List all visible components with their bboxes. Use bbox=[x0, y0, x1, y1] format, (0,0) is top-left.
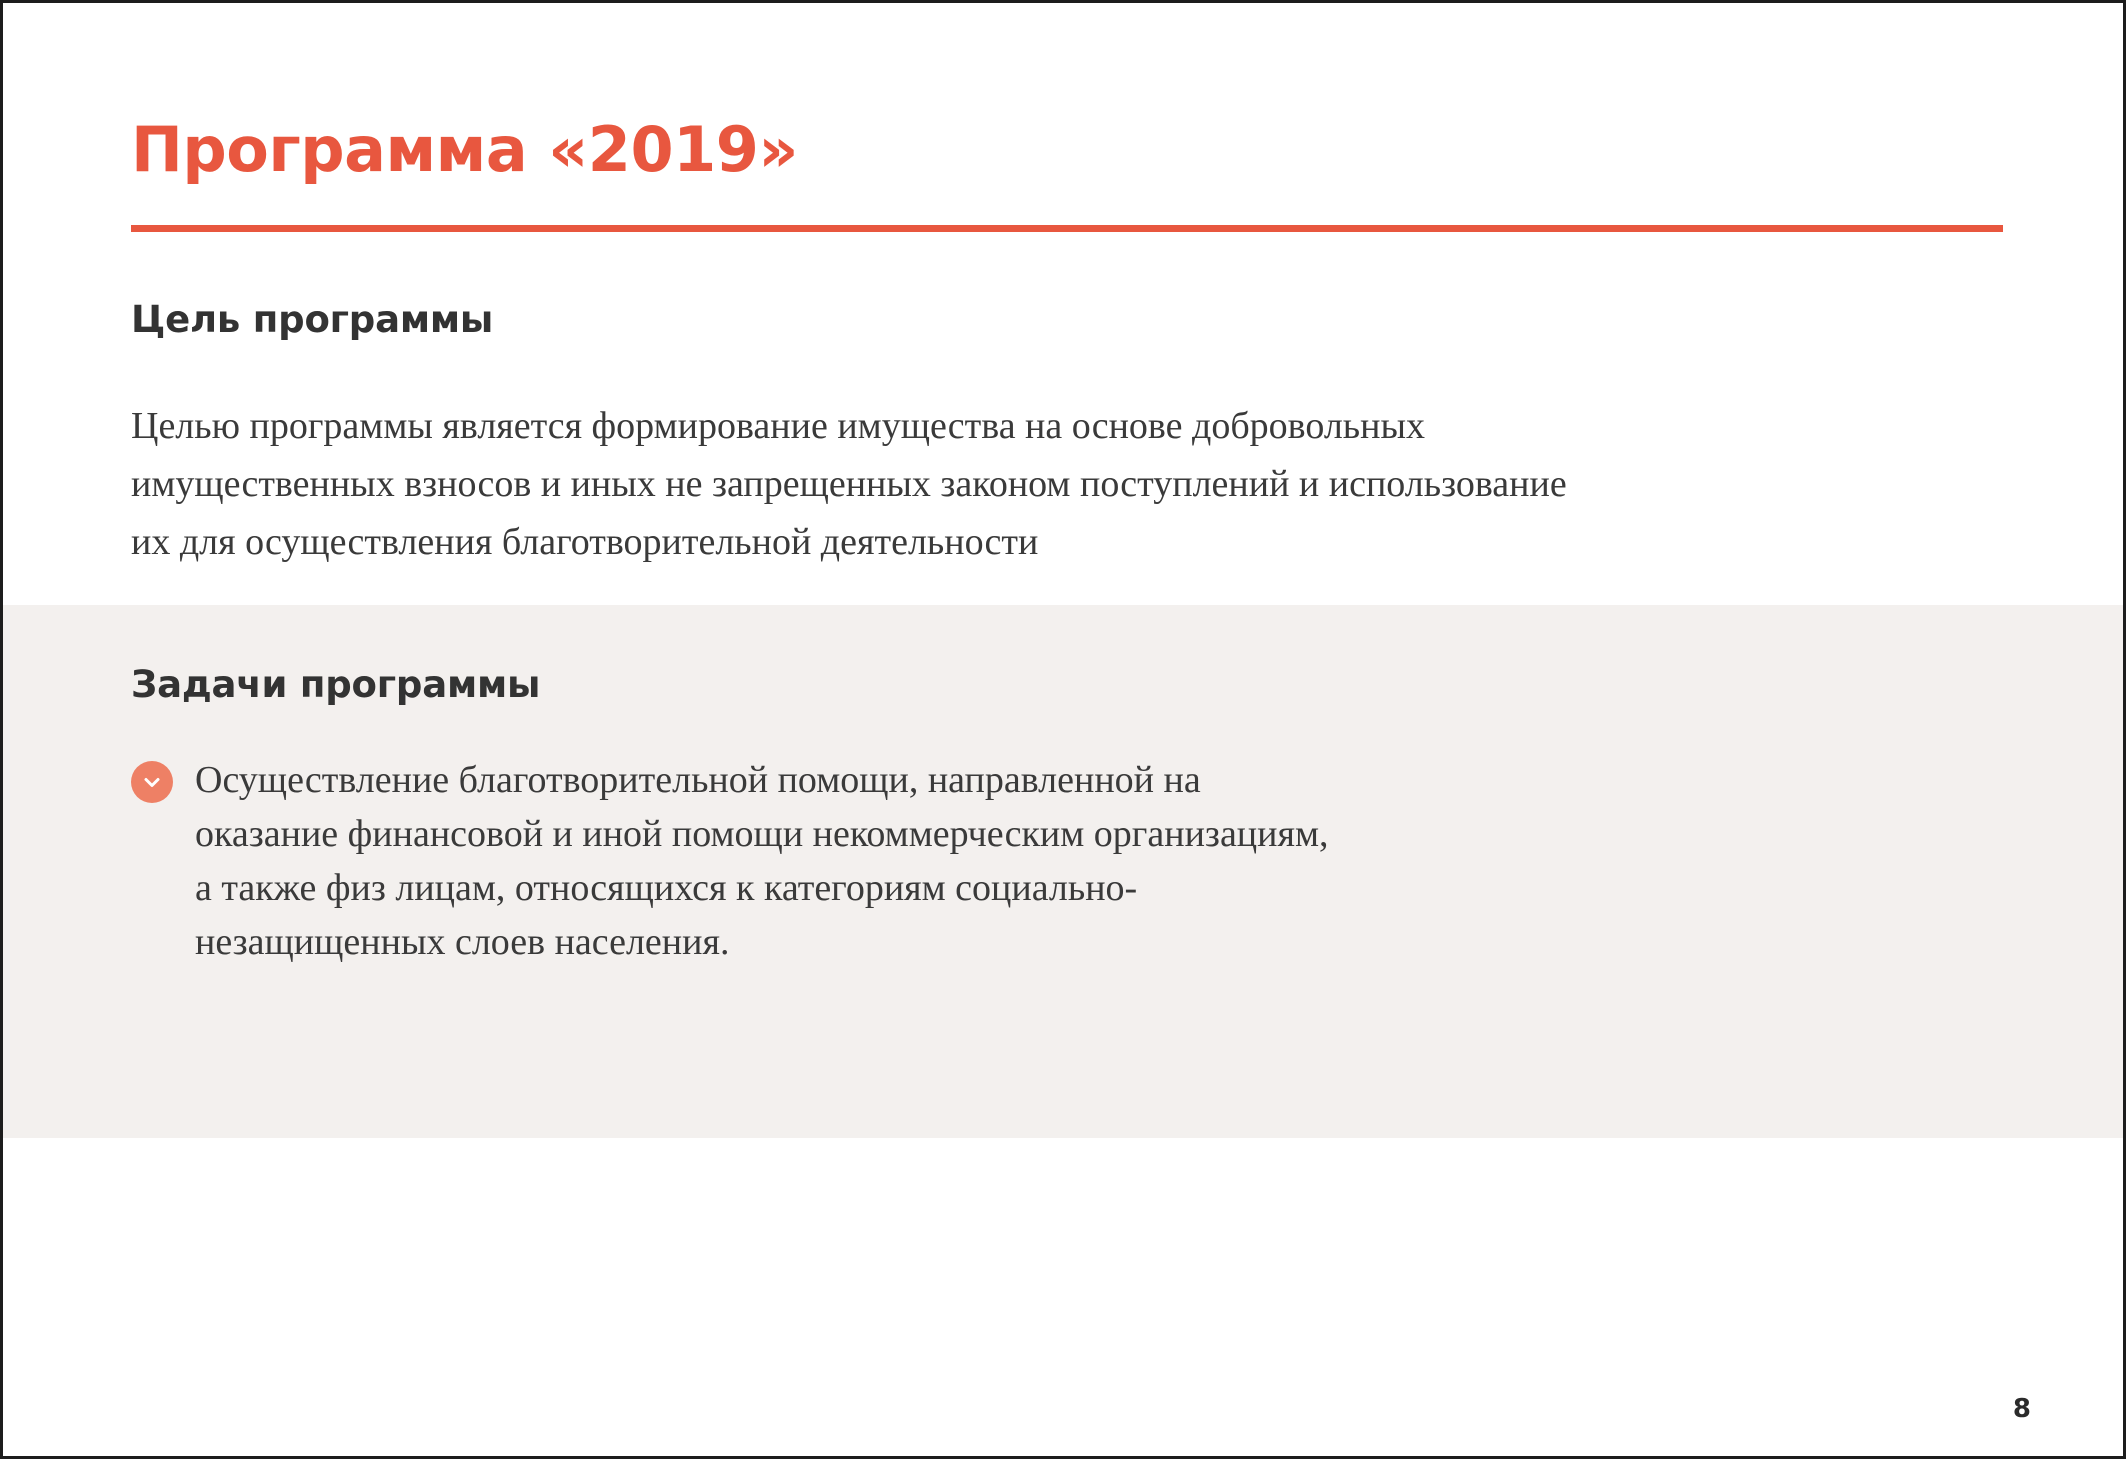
tasks-section-heading: Задачи программы bbox=[3, 663, 2126, 707]
goal-paragraph: Целью программы является формирование им… bbox=[3, 397, 1773, 571]
title-underline-rule bbox=[131, 225, 2003, 232]
list-item-label: Осуществление благотворительной помощи, … bbox=[195, 759, 1329, 963]
tasks-heading-wrapper: Задачи программы bbox=[3, 663, 2126, 707]
page-title: Программа «2019» bbox=[131, 117, 2003, 184]
tasks-section: Задачи программы Осуществление благотвор… bbox=[3, 605, 2126, 1138]
check-circle-icon bbox=[131, 761, 173, 803]
list-item: Осуществление благотворительной помощи, … bbox=[131, 753, 1331, 969]
title-area: Программа «2019» bbox=[131, 117, 2003, 184]
page-number: 8 bbox=[2013, 1394, 2031, 1424]
tasks-list: Осуществление благотворительной помощи, … bbox=[131, 753, 1331, 969]
goal-section-heading: Цель программы bbox=[3, 298, 2126, 342]
presentation-slide: Программа «2019» Цель программы Целью пр… bbox=[0, 0, 2126, 1459]
goal-section: Цель программы Целью программы является … bbox=[3, 298, 2126, 571]
